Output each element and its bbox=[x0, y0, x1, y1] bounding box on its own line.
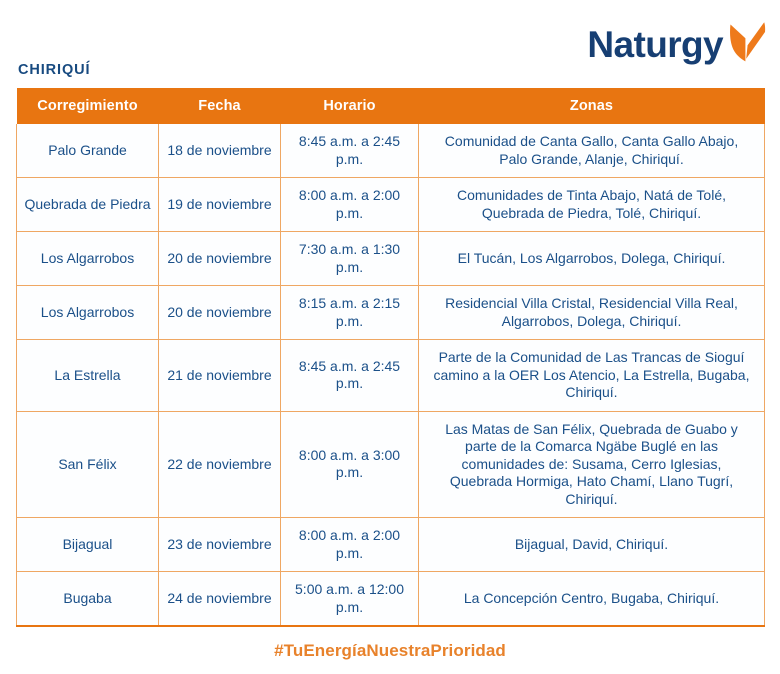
table-row: Palo Grande 18 de noviembre 8:45 a.m. a … bbox=[17, 124, 765, 178]
column-header-fecha: Fecha bbox=[159, 88, 281, 124]
schedule-table: Corregimiento Fecha Horario Zonas Palo G… bbox=[16, 88, 765, 627]
table-row: Bijagual 23 de noviembre 8:00 a.m. a 2:0… bbox=[17, 518, 765, 572]
naturgy-logo: Naturgy bbox=[587, 24, 766, 70]
cell-horario: 5:00 a.m. a 12:00 p.m. bbox=[281, 572, 419, 627]
cell-horario: 8:00 a.m. a 3:00 p.m. bbox=[281, 411, 419, 518]
column-header-horario: Horario bbox=[281, 88, 419, 124]
cell-fecha: 24 de noviembre bbox=[159, 572, 281, 627]
table-row: Bugaba 24 de noviembre 5:00 a.m. a 12:00… bbox=[17, 572, 765, 627]
cell-corregimiento: Los Algarrobos bbox=[17, 232, 159, 286]
campaign-hashtag: #TuEnergíaNuestraPrioridad bbox=[274, 641, 506, 661]
cell-corregimiento: San Félix bbox=[17, 411, 159, 518]
naturgy-wordmark: Naturgy bbox=[587, 24, 723, 66]
table-row: Quebrada de Piedra 19 de noviembre 8:00 … bbox=[17, 178, 765, 232]
cell-corregimiento: Palo Grande bbox=[17, 124, 159, 178]
cell-zonas: Residencial Villa Cristal, Residencial V… bbox=[419, 286, 765, 340]
cell-corregimiento: Los Algarrobos bbox=[17, 286, 159, 340]
cell-zonas: Comunidades de Tinta Abajo, Natá de Tolé… bbox=[419, 178, 765, 232]
page-header: Naturgy CHIRIQUÍ bbox=[0, 0, 780, 88]
schedule-infographic: Naturgy CHIRIQUÍ Corregimiento Fecha Hor… bbox=[0, 0, 780, 674]
table-row: La Estrella 21 de noviembre 8:45 a.m. a … bbox=[17, 340, 765, 412]
cell-fecha: 18 de noviembre bbox=[159, 124, 281, 178]
cell-fecha: 22 de noviembre bbox=[159, 411, 281, 518]
cell-horario: 8:15 a.m. a 2:15 p.m. bbox=[281, 286, 419, 340]
page-footer: #TuEnergíaNuestraPrioridad bbox=[0, 641, 780, 661]
cell-corregimiento: La Estrella bbox=[17, 340, 159, 412]
cell-fecha: 23 de noviembre bbox=[159, 518, 281, 572]
cell-horario: 8:00 a.m. a 2:00 p.m. bbox=[281, 518, 419, 572]
cell-zonas: Bijagual, David, Chiriquí. bbox=[419, 518, 765, 572]
cell-corregimiento: Bijagual bbox=[17, 518, 159, 572]
page-title: CHIRIQUÍ bbox=[18, 62, 90, 78]
cell-fecha: 20 de noviembre bbox=[159, 232, 281, 286]
table-row: San Félix 22 de noviembre 8:00 a.m. a 3:… bbox=[17, 411, 765, 518]
cell-corregimiento: Quebrada de Piedra bbox=[17, 178, 159, 232]
cell-horario: 8:45 a.m. a 2:45 p.m. bbox=[281, 340, 419, 412]
column-header-zonas: Zonas bbox=[419, 88, 765, 124]
cell-fecha: 21 de noviembre bbox=[159, 340, 281, 412]
naturgy-flame-icon bbox=[724, 20, 766, 66]
cell-zonas: Comunidad de Canta Gallo, Canta Gallo Ab… bbox=[419, 124, 765, 178]
schedule-table-container: Corregimiento Fecha Horario Zonas Palo G… bbox=[16, 88, 764, 627]
cell-fecha: 19 de noviembre bbox=[159, 178, 281, 232]
cell-horario: 8:00 a.m. a 2:00 p.m. bbox=[281, 178, 419, 232]
table-row: Los Algarrobos 20 de noviembre 8:15 a.m.… bbox=[17, 286, 765, 340]
table-header: Corregimiento Fecha Horario Zonas bbox=[17, 88, 765, 124]
table-header-row: Corregimiento Fecha Horario Zonas bbox=[17, 88, 765, 124]
cell-zonas: El Tucán, Los Algarrobos, Dolega, Chiriq… bbox=[419, 232, 765, 286]
cell-horario: 8:45 a.m. a 2:45 p.m. bbox=[281, 124, 419, 178]
cell-zonas: La Concepción Centro, Bugaba, Chiriquí. bbox=[419, 572, 765, 627]
cell-horario: 7:30 a.m. a 1:30 p.m. bbox=[281, 232, 419, 286]
cell-corregimiento: Bugaba bbox=[17, 572, 159, 627]
table-row: Los Algarrobos 20 de noviembre 7:30 a.m.… bbox=[17, 232, 765, 286]
cell-zonas: Parte de la Comunidad de Las Trancas de … bbox=[419, 340, 765, 412]
table-body: Palo Grande 18 de noviembre 8:45 a.m. a … bbox=[17, 124, 765, 626]
cell-fecha: 20 de noviembre bbox=[159, 286, 281, 340]
column-header-corregimiento: Corregimiento bbox=[17, 88, 159, 124]
cell-zonas: Las Matas de San Félix, Quebrada de Guab… bbox=[419, 411, 765, 518]
